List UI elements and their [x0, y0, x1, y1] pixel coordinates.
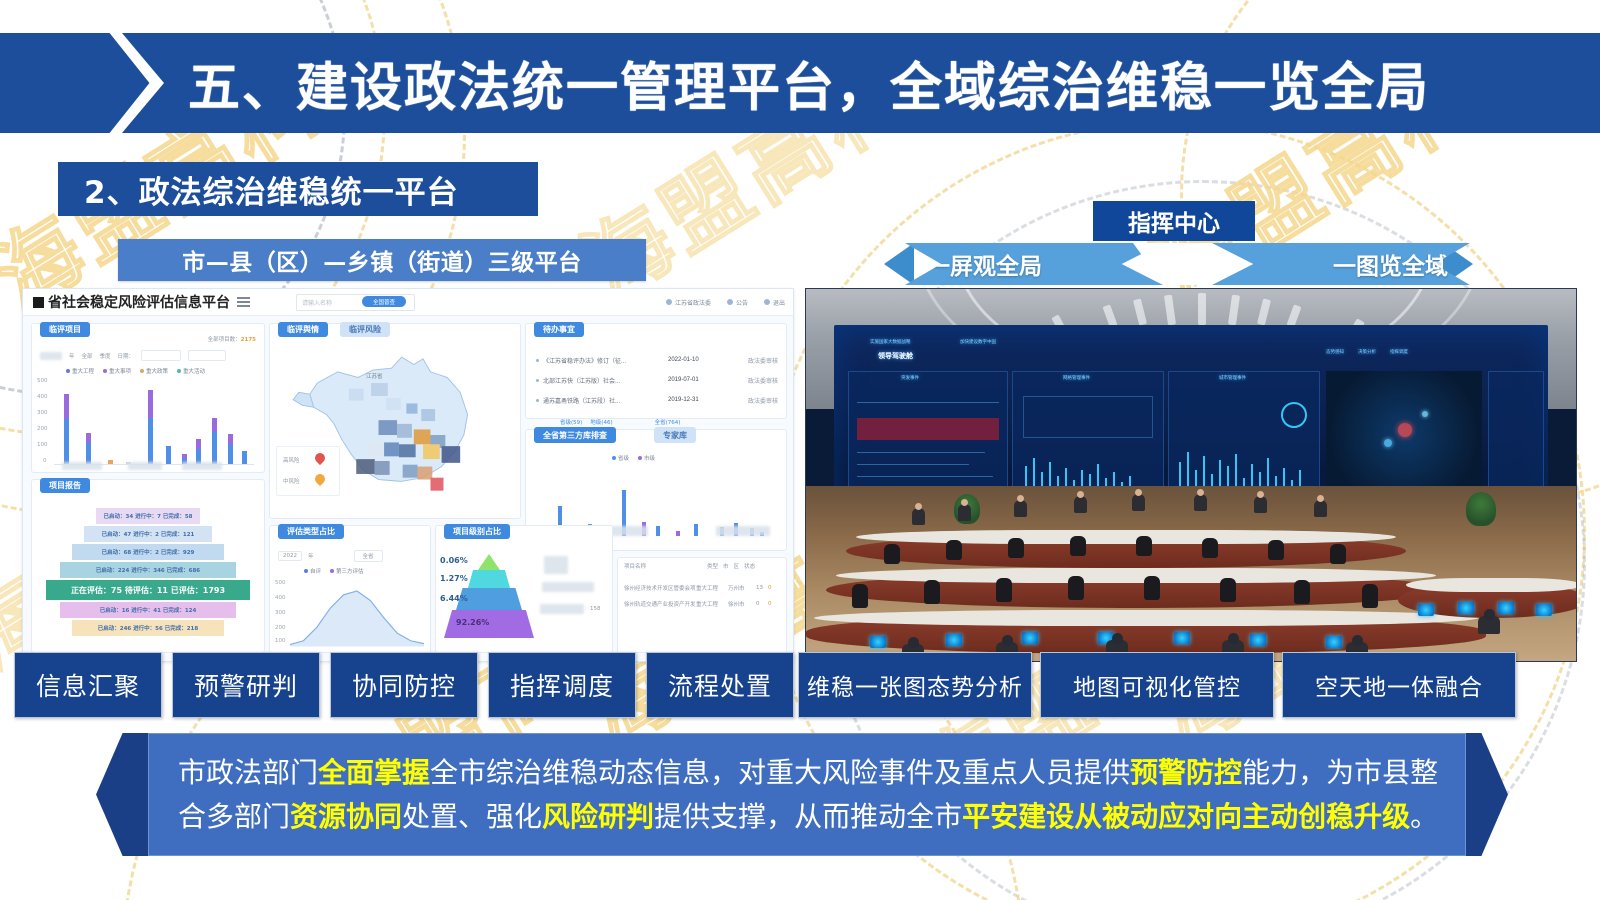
eval-year-unit: 年: [308, 552, 314, 560]
y-tick: 200: [37, 426, 48, 432]
topbar-item-logout[interactable]: 退出: [764, 298, 785, 307]
todo-status: 政法委审核: [726, 396, 778, 405]
map-tab-public-opinion[interactable]: 临评舆情: [278, 322, 328, 337]
third-party-badges: 省级(59) 地级(46) 全省(764): [560, 418, 680, 426]
feature-label: 维稳一张图态势分析: [807, 668, 1023, 702]
bullet-icon: [536, 399, 539, 402]
detail-table-rows: 徐州经济技术开发区管委会项目 重大工程 万州市 13 0 徐州轨道交通产业投资产…: [624, 580, 780, 612]
todo-card-tab[interactable]: 待办事宜: [534, 322, 584, 337]
banner-one-map-label: 一图览全域: [1333, 247, 1448, 281]
todo-row[interactable]: 通苏嘉甬铁路（江苏段）社... 2019-12-31 政法委审核: [536, 390, 778, 410]
panel-title: 网格管理事件: [1063, 375, 1090, 381]
pyramid-row-text: 已启动：224 进行中：346 已完成：686: [96, 566, 200, 574]
topbar-item-logout-label: 退出: [773, 298, 785, 307]
pyramid-summary-text: 正在评估：75 待评估：11 已评估：1793: [71, 585, 225, 596]
panel-title: 突发事件: [901, 375, 919, 381]
todo-date: 2022-01-10: [668, 357, 726, 363]
eval-scope-select[interactable]: 全省: [354, 550, 383, 562]
wall-headline: 实施国家大数据战略: [870, 339, 911, 345]
wall-map: [1326, 371, 1482, 497]
eval-y-tick: 100: [275, 638, 286, 644]
section-label-text: 2、政法综治维稳统一平台: [58, 167, 459, 212]
summary-seg-highlight: 资源协同: [290, 800, 402, 833]
eval-y-tick: 200: [275, 625, 286, 631]
third-party-tab[interactable]: 全省第三方库排查: [534, 427, 616, 443]
todo-date: 2019-12-31: [668, 397, 726, 403]
y-tick: 100: [37, 442, 48, 448]
hamburger-icon[interactable]: [237, 297, 250, 307]
ratio-label-1: 0.06%: [440, 556, 468, 565]
project-chart-legend: 重大工程 重大事项 重大政策 重大活动: [66, 367, 205, 375]
wall-panel-side: [1488, 371, 1544, 499]
project-ratio-tab[interactable]: 项目级别占比: [444, 524, 510, 539]
page-header: 五、建设政法统一管理平台，全域综治维稳一览全局: [0, 33, 1600, 133]
risk-assessment-dashboard[interactable]: 省社会稳定风险评估信息平台 请输入名称 江苏省政法委 公告 退出 全部项目数： …: [22, 288, 794, 662]
wall-badge: 领导驾驶舱: [878, 351, 913, 361]
wall-nav: 态势感知 决策分析 指挥调度: [1326, 349, 1408, 355]
map-tab-risk[interactable]: 临评风险: [340, 322, 390, 337]
filter-date-label: 日期：: [118, 352, 135, 360]
feature-label: 协同防控: [352, 667, 456, 703]
summary-text: 市政法部门全面掌握全市综治维稳动态信息，对重大风险事件及重点人员提供预警防控能力…: [148, 751, 1466, 839]
page-title: 五、建设政法统一管理平台，全域综治维稳一览全局: [188, 46, 1430, 121]
ratio-funnel: 0.06% 1.27% 6.44% 92.26%: [442, 550, 538, 646]
badge-prefecture: 地级(46): [590, 418, 612, 426]
wall-nav-item: 决策分析: [1358, 349, 1376, 355]
map-region-label: 江苏省: [366, 372, 383, 380]
banner-one-screen-label: 一屏观全局: [927, 247, 1042, 281]
todo-status: 政法委审核: [726, 356, 778, 365]
col-status: 状态: [744, 562, 755, 570]
todo-card[interactable]: 待办事宜 《江苏省稳评办法》修订（征... 2022-01-10 政法委审核 北…: [525, 323, 787, 419]
bell-icon: [727, 299, 733, 305]
summary-seg: 市政法部门: [178, 756, 318, 789]
feature-label: 信息汇聚: [36, 667, 140, 703]
summary-seg-highlight: 平安建设从被动应对向主动创稳升级: [962, 800, 1410, 833]
wall-nav-item: 态势感知: [1326, 349, 1344, 355]
pyramid-row-text: 已启动：47 进行中：2 已完成：121: [102, 530, 195, 538]
slide-canvas: 海盟高科 海盟高科 海盟高科 海盟高科 海盟高科 海盟高科 海盟高科 海盟高科 …: [0, 0, 1600, 900]
command-center-photo: 实施国家大数据战略 加快建设数字中国 领导驾驶舱 突发事件 网格管理事件: [805, 288, 1577, 662]
todo-row[interactable]: 《江苏省稳评办法》修订（征... 2022-01-10 政法委审核: [536, 350, 778, 370]
legend-item: 重大工程: [66, 367, 94, 375]
banner-one-screen: 一屏观全局: [905, 243, 1163, 285]
dashboard-app-title: 省社会稳定风险评估信息平台: [48, 292, 230, 312]
pyramid-row-text: 已启动：34 进行中：7 已完成：58: [104, 512, 193, 520]
summary-seg: 处置、强化: [402, 800, 542, 833]
wall-panel-grid: 网格管理事件: [1012, 371, 1164, 499]
wall-panel-incidents: 突发事件: [848, 371, 1008, 499]
feature-one-map-analysis[interactable]: 维稳一张图态势分析: [798, 652, 1032, 718]
project-total-label: 全部项目数：2175: [208, 335, 256, 343]
eval-legend: 自评 第三方评估: [304, 567, 364, 575]
detail-table-card[interactable]: 项目名称 类型 市 区 状态 徐州经济技术开发区管委会项目 重大工程 万州市 1…: [617, 557, 787, 653]
exit-icon: [764, 299, 770, 305]
filter-all-label[interactable]: 全部: [82, 352, 93, 360]
y-tick: 300: [37, 410, 48, 416]
filter-date-input-2[interactable]: [188, 350, 226, 361]
todo-row[interactable]: 北部江苏快（江苏版）社会... 2019-07-01 政法委审核: [536, 370, 778, 390]
eval-y-tick: 300: [275, 610, 286, 616]
dashboard-search-placeholder: 请输入名称: [302, 298, 332, 307]
pyramid-row-text: 已启动：16 进行中：41 已完成：124: [100, 606, 197, 614]
pyramid-row-text: 已启动：68 进行中：2 已完成：929: [102, 548, 195, 556]
project-total-text: 全部项目数：: [208, 337, 241, 343]
third-party-legend: 省级 市级: [612, 454, 655, 462]
chevron-right-icon: [108, 31, 164, 135]
table-row[interactable]: 徐州轨道交通产业投资产开发 重大工程 徐州市 0 0: [624, 596, 780, 612]
project-chart-tab[interactable]: 临评项目: [40, 322, 90, 337]
map-legend: 高风险 中风险: [276, 446, 340, 496]
eval-y-tick: 500: [275, 580, 286, 586]
eval-type-tab[interactable]: 评估类型占比: [278, 524, 344, 539]
ratio-value-note: 158: [590, 606, 601, 612]
report-pyramid: 已启动：34 进行中：7 已完成：58 已启动：47 进行中：2 已完成：121…: [32, 504, 264, 650]
ratio-label-4: 92.26%: [456, 618, 489, 627]
wall-panel-city: 城市管理事件: [1168, 371, 1320, 499]
summary-seg-highlight: 风险研判: [542, 800, 654, 833]
summary-seg-highlight: 预警防控: [1130, 756, 1242, 789]
report-card[interactable]: 项目报告 已启动：34 进行中：7 已完成：58 已启动：47 进行中：2 已完…: [31, 479, 265, 653]
summary-seg: 。: [1410, 800, 1438, 833]
section-label: 2、政法综治维稳统一平台: [58, 162, 538, 216]
legend-item: 重大政策: [140, 367, 168, 375]
todo-status: 政法委审核: [726, 376, 778, 385]
feature-label: 预警研判: [194, 667, 298, 703]
col-city: 市: [723, 562, 729, 570]
filter-date-input[interactable]: [141, 350, 181, 361]
map-legend-high: 高风险: [283, 456, 300, 464]
summary-seg: 提供支撑，从而推动全市: [654, 800, 962, 833]
dashboard-topbar-right: 江苏省政法委 公告 退出: [666, 298, 785, 307]
feature-label: 指挥调度: [510, 667, 614, 703]
todo-text: 北部江苏快（江苏版）社会...: [543, 376, 668, 385]
eval-year-select[interactable]: 2022: [278, 551, 302, 561]
dashboard-topbar: 省社会稳定风险评估信息平台 请输入名称 江苏省政法委 公告 退出 全部项目数：: [23, 289, 793, 316]
col-district: 区: [734, 562, 740, 570]
filter-quarter-label[interactable]: 季度: [100, 352, 111, 360]
summary-body: 市政法部门全面掌握全市综治维稳动态信息，对重大风险事件及重点人员提供预警防控能力…: [148, 733, 1466, 856]
legend-item: 重大事项: [103, 367, 131, 375]
topbar-item-notice-label: 公告: [736, 298, 748, 307]
project-bars: [56, 376, 256, 464]
ratio-label-2: 1.27%: [440, 574, 468, 583]
pyramid-row-text: 已启动：246 进行中：56 已完成：218: [98, 624, 198, 632]
video-wall: 实施国家大数据战略 加快建设数字中国 领导驾驶舱 突发事件 网格管理事件: [834, 325, 1548, 501]
feature-label: 地图可视化管控: [1073, 668, 1241, 702]
project-filter-row[interactable]: 年 全部 季度 日期：: [40, 350, 226, 361]
risk-map-card[interactable]: 临评舆情 临评风险: [269, 323, 521, 519]
todo-text: 通苏嘉甬铁路（江苏段）社...: [543, 396, 668, 405]
feature-early-warning[interactable]: 预警研判: [172, 652, 320, 718]
col-name: 项目名称: [624, 562, 646, 570]
feature-map-visual-control[interactable]: 地图可视化管控: [1040, 652, 1274, 718]
eval-type-card[interactable]: 评估类型占比 2022 年 全省 自评 第三方评估 500 400 300 20…: [269, 525, 431, 653]
command-center-badge: 指挥中心: [1093, 201, 1255, 241]
wall-subline: 加快建设数字中国: [960, 339, 996, 345]
photo-floor: [806, 486, 1576, 661]
y-tick: 400: [37, 394, 48, 400]
national-survey-button[interactable]: 全国普查: [362, 296, 406, 307]
summary-seg: 全市综治维稳动态信息，对重大风险事件及重点人员提供: [430, 756, 1130, 789]
detail-table-header: 项目名称 类型 市 区 状态: [624, 562, 755, 570]
y-tick: 500: [37, 378, 48, 384]
expert-db-tab[interactable]: 专家库: [654, 427, 696, 443]
tier-label: 市—县（区）—乡镇（街道）三级平台: [118, 239, 646, 281]
tier-label-text: 市—县（区）—乡镇（街道）三级平台: [182, 243, 582, 277]
ribbon-arrow-left-icon: [884, 243, 914, 285]
eval-area-chart: [290, 578, 424, 648]
y-tick: 0: [43, 458, 47, 464]
feature-collaborative-control[interactable]: 协同防控: [330, 652, 478, 718]
project-chart-card[interactable]: 临评项目 全部项目数：2175 年 全部 季度 日期： 重大工程 重大事项 重大…: [31, 323, 265, 473]
col-type: 类型: [707, 562, 718, 570]
feature-label: 流程处置: [668, 667, 772, 703]
map-legend-mid: 中风险: [283, 477, 300, 485]
topbar-item-org-label: 江苏省政法委: [675, 298, 711, 307]
project-ratio-card[interactable]: 项目级别占比 0.06% 1.27% 6.44% 92.26% 158: [435, 525, 613, 653]
table-row[interactable]: 徐州经济技术开发区管委会项目 重大工程 万州市 13 0: [624, 580, 780, 596]
badge-provincial: 省级(59): [560, 418, 582, 426]
summary-seg-highlight: 全面掌握: [318, 756, 430, 789]
topbar-item-notice[interactable]: 公告: [727, 298, 748, 307]
ratio-label-3: 6.44%: [440, 594, 468, 603]
feature-row: 信息汇聚 预警研判 协同防控 指挥调度 流程处置 维稳一张图态势分析 地图可视化…: [0, 652, 1600, 716]
todo-date: 2019-07-01: [668, 377, 726, 383]
legend-item: 重大活动: [177, 367, 205, 375]
eval-y-tick: 400: [275, 595, 286, 601]
report-card-tab[interactable]: 项目报告: [40, 478, 90, 493]
panel-title: 城市管理事件: [1219, 375, 1246, 381]
summary-banner: 市政法部门全面掌握全市综治维稳动态信息，对重大风险事件及重点人员提供预警防控能力…: [96, 733, 1508, 856]
filter-year-label: 年: [69, 352, 75, 360]
badge-total: 全省(764): [655, 418, 681, 426]
wall-nav-item: 指挥调度: [1390, 349, 1408, 355]
project-total-value: 2175: [241, 337, 256, 343]
mid-risk-pin-icon: [315, 474, 325, 488]
bullet-icon: [536, 379, 539, 382]
feature-info-aggregation[interactable]: 信息汇聚: [14, 652, 162, 718]
topbar-item-org[interactable]: 江苏省政法委: [666, 298, 711, 307]
bullet-icon: [536, 359, 539, 362]
feature-command-dispatch[interactable]: 指挥调度: [488, 652, 636, 718]
feature-label: 空天地一体融合: [1315, 668, 1483, 702]
feature-air-space-ground[interactable]: 空天地一体融合: [1282, 652, 1516, 718]
square-logo-icon: [33, 297, 44, 308]
eval-filter-row[interactable]: 2022 年 全省: [278, 550, 383, 562]
feature-process-handling[interactable]: 流程处置: [646, 652, 794, 718]
todo-text: 《江苏省稳评办法》修订（征...: [543, 356, 668, 365]
org-icon: [666, 299, 672, 305]
command-center-label: 指挥中心: [1128, 204, 1220, 238]
high-risk-pin-icon: [315, 453, 325, 467]
